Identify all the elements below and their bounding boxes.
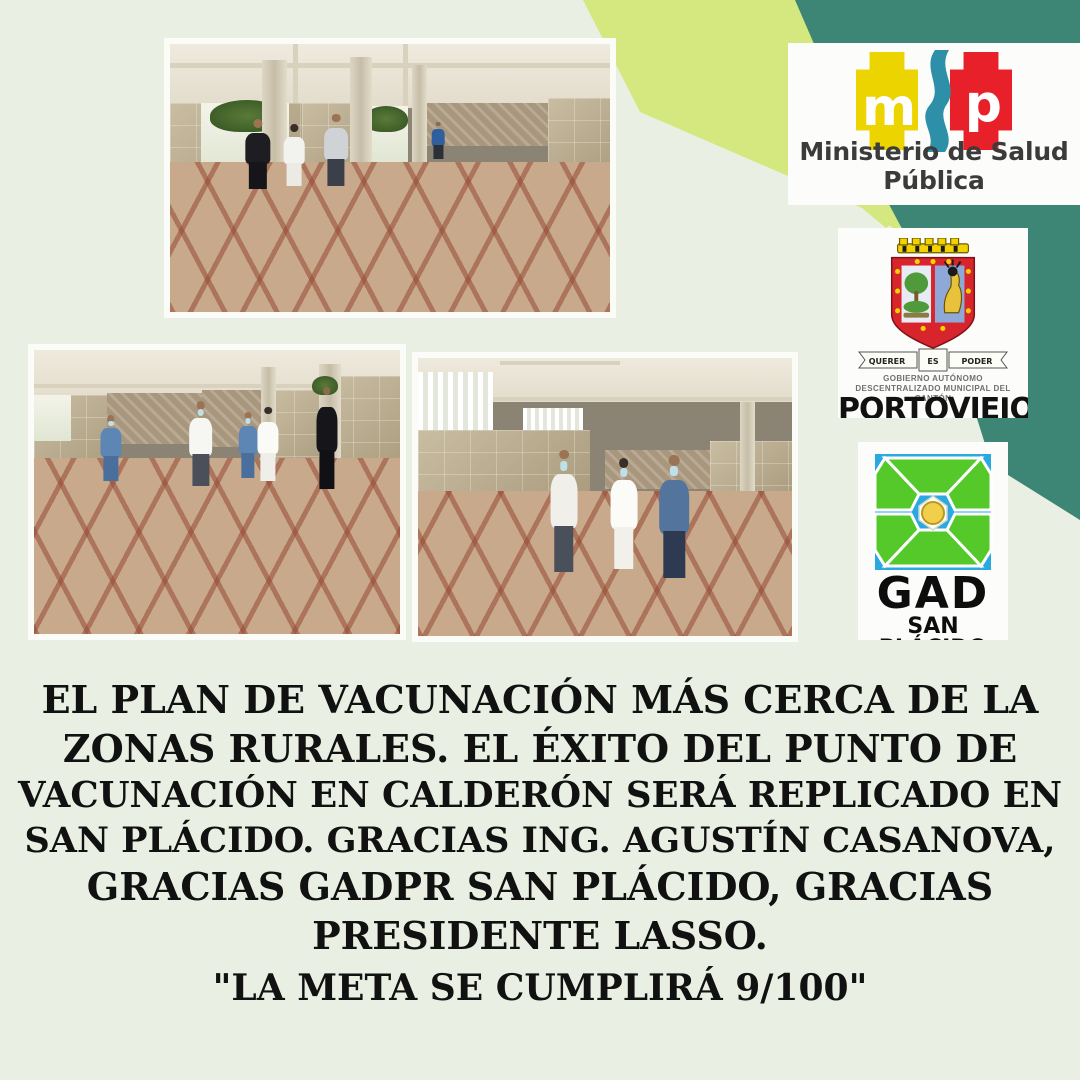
portoviejo-name: PORTOVIEJO bbox=[838, 392, 1028, 418]
msp-letter-p: p bbox=[965, 78, 1002, 130]
photo-three-officials bbox=[412, 352, 798, 642]
svg-text:PODER: PODER bbox=[962, 357, 993, 366]
photo-indoor-hall-officials bbox=[28, 344, 406, 640]
caption-line-5: GRACIAS GADPR SAN PLÁCIDO, GRACIAS bbox=[18, 863, 1062, 912]
caption-line-6: PRESIDENTE LASSO. bbox=[18, 912, 1062, 961]
gad-san-placido-mark-icon bbox=[867, 450, 999, 574]
ministerio-de-salud-publica-logo: m p Ministerio de Salud Pública bbox=[788, 43, 1080, 205]
caption-goal-quote: "LA META SE CUMPLIRÁ 9/100" bbox=[18, 965, 1062, 1011]
gad-title: GAD bbox=[858, 572, 1008, 616]
person-official-right bbox=[654, 455, 695, 577]
gad-municipal-portoviejo-logo: QUERER ES PODER GOBIERNO AUTÓNOMO DESCEN… bbox=[838, 228, 1028, 418]
portoviejo-subtitle-line1: GOBIERNO AUTÓNOMO bbox=[842, 374, 1024, 384]
portoviejo-coat-of-arms-icon bbox=[874, 238, 992, 356]
caption-line-1: EL PLAN DE VACUNACIÓN MÁS CERCA DE LA bbox=[18, 676, 1062, 725]
caption-line-3: VACUNACIÓN EN CALDERÓN SERÁ REPLICADO EN bbox=[18, 773, 1062, 818]
caption-line-2: ZONAS RURALES. EL ÉXITO DEL PUNTO DE bbox=[18, 725, 1062, 774]
msp-mark: m p bbox=[856, 52, 1012, 150]
svg-text:QUERER: QUERER bbox=[869, 357, 906, 366]
svg-text:ES: ES bbox=[927, 357, 938, 366]
person-official-left bbox=[545, 450, 582, 572]
portoviejo-motto-ribbon: QUERER ES PODER bbox=[857, 348, 1009, 372]
caption-block: EL PLAN DE VACUNACIÓN MÁS CERCA DE LA ZO… bbox=[0, 676, 1080, 1011]
photo-covered-hall-chairs bbox=[164, 38, 616, 318]
msp-letter-m: m bbox=[862, 82, 916, 134]
msp-caption: Ministerio de Salud Pública bbox=[788, 137, 1080, 195]
gad-san-placido-logo: GAD SAN PLÁCIDO bbox=[858, 442, 1008, 640]
poster-canvas: m p Ministerio de Salud Pública bbox=[0, 0, 1080, 1080]
caption-line-4: SAN PLÁCIDO. GRACIAS ING. AGUSTÍN CASANO… bbox=[18, 819, 1062, 864]
gad-subtitle: SAN PLÁCIDO bbox=[858, 616, 1008, 640]
